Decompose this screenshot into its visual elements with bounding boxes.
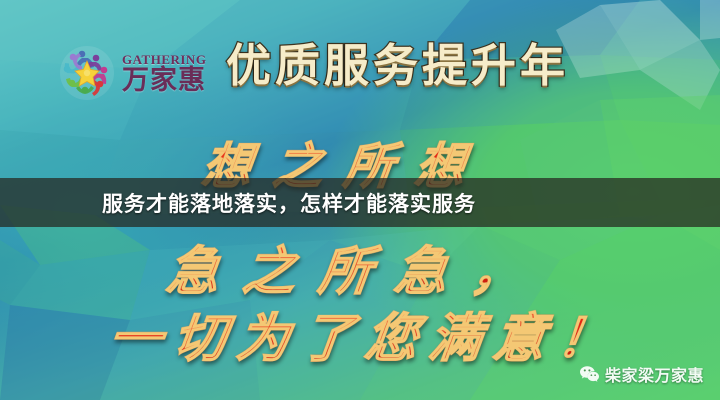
gathering-people-circle-icon — [58, 44, 116, 102]
slogan-line-3: 一切为了您满意！ — [105, 296, 626, 371]
logo-english-text: GATHERING — [122, 53, 206, 66]
slogan-line-2: 急之所急， — [163, 229, 552, 304]
headline-text: 优质服务提升年 — [226, 43, 566, 88]
watermark: 柴家梁万家惠 — [579, 362, 704, 386]
caption-text: 服务才能落地落实，怎样才能落实服务 — [102, 188, 476, 218]
caption-overlay-bar: 服务才能落地落实，怎样才能落实服务 — [0, 178, 720, 227]
brand-logo: GATHERING 万家惠 — [58, 42, 204, 104]
logo-wordmark: GATHERING 万家惠 — [122, 51, 206, 95]
watermark-text: 柴家梁万家惠 — [605, 362, 704, 386]
logo-chinese-text: 万家惠 — [122, 67, 206, 95]
banner-image: GATHERING 万家惠 优质服务提升年 想之所想 急之所急， 一切为了您满意… — [0, 0, 720, 400]
wechat-icon — [579, 365, 600, 383]
